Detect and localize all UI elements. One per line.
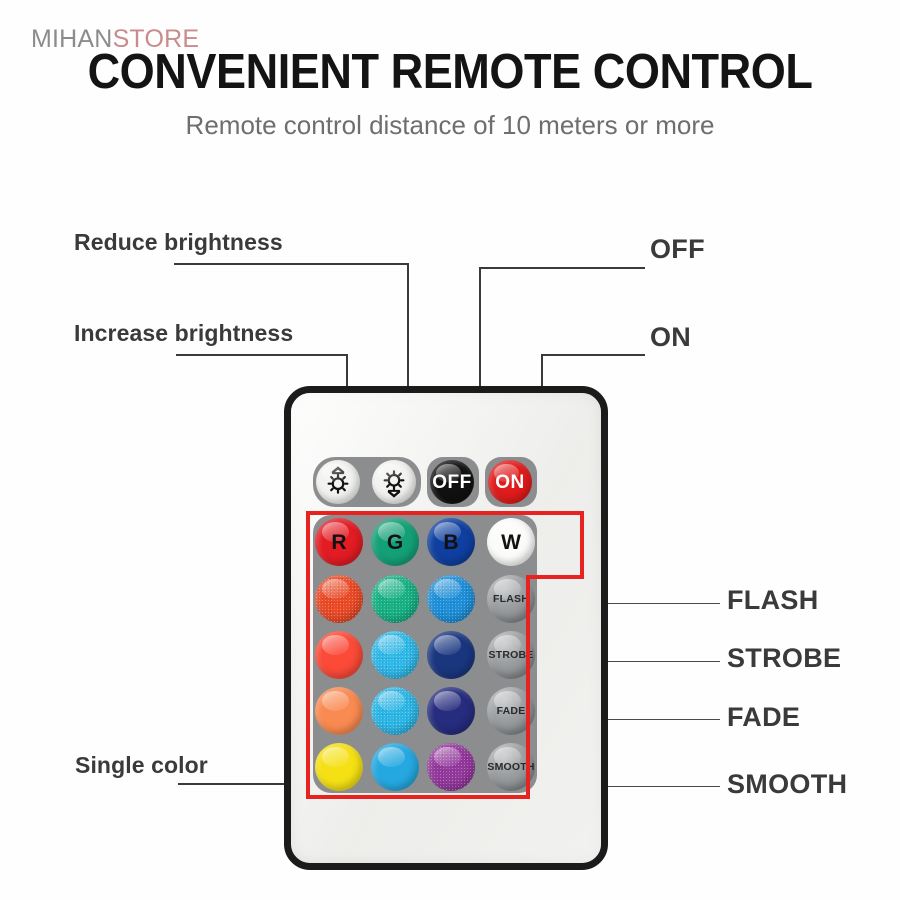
smooth-button[interactable]: SMOOTH [487,743,535,791]
flash-button-label: FLASH [493,594,529,605]
color-button-red-label: R [331,532,346,553]
on-button[interactable]: ON [488,460,532,504]
callout-fade: FADE [727,702,800,733]
leader-line-off-h [479,267,645,269]
leader-line-increase-h [176,354,348,356]
flash-button[interactable]: FLASH [487,575,535,623]
color-button-r5c3[interactable] [427,743,475,791]
product-infographic: MIHANSTORE CONVENIENT REMOTE CONTROL Rem… [0,0,900,900]
color-button-blue[interactable]: B [427,518,475,566]
color-button-white-label: W [501,532,521,553]
color-button-green[interactable]: G [371,518,419,566]
page-title: CONVENIENT REMOTE CONTROL [36,44,864,100]
color-button-r5c2[interactable] [371,743,419,791]
color-button-red[interactable]: R [315,518,363,566]
remote-control-body: OFF ON R G B W FLASH [284,386,608,870]
color-button-green-label: G [387,532,403,553]
color-button-r4c1[interactable] [315,687,363,735]
page-subtitle: Remote control distance of 10 meters or … [0,110,900,141]
callout-increase-brightness: Increase brightness [74,320,293,347]
color-button-r3c3[interactable] [427,631,475,679]
increase-brightness-button[interactable] [372,460,416,504]
color-button-blue-label: B [443,532,458,553]
color-button-r4c3[interactable] [427,687,475,735]
color-button-r2c1[interactable] [315,575,363,623]
color-button-r3c2[interactable] [371,631,419,679]
on-button-label: ON [495,473,525,492]
sun-up-icon [377,465,411,499]
color-button-r5c1[interactable] [315,743,363,791]
callout-strobe: STROBE [727,643,841,674]
off-button[interactable]: OFF [430,460,474,504]
strobe-button[interactable]: STROBE [487,631,535,679]
callout-off: OFF [650,234,705,265]
color-button-r2c2[interactable] [371,575,419,623]
fade-button[interactable]: FADE [487,687,535,735]
off-button-label: OFF [432,473,472,492]
smooth-button-label: SMOOTH [487,762,534,773]
callout-smooth: SMOOTH [727,769,847,800]
strobe-button-label: STROBE [489,650,534,661]
callout-flash: FLASH [727,585,819,616]
leader-line-on-h [541,354,645,356]
leader-line-reduce-h [174,263,409,265]
color-button-r3c1[interactable] [315,631,363,679]
sun-down-icon [321,465,355,499]
callout-single-color: Single color [75,752,208,779]
color-button-white[interactable]: W [487,518,535,566]
color-button-r2c3[interactable] [427,575,475,623]
callout-reduce-brightness: Reduce brightness [74,229,283,256]
color-button-r4c2[interactable] [371,687,419,735]
fade-button-label: FADE [497,706,526,717]
reduce-brightness-button[interactable] [316,460,360,504]
callout-on: ON [650,322,691,353]
